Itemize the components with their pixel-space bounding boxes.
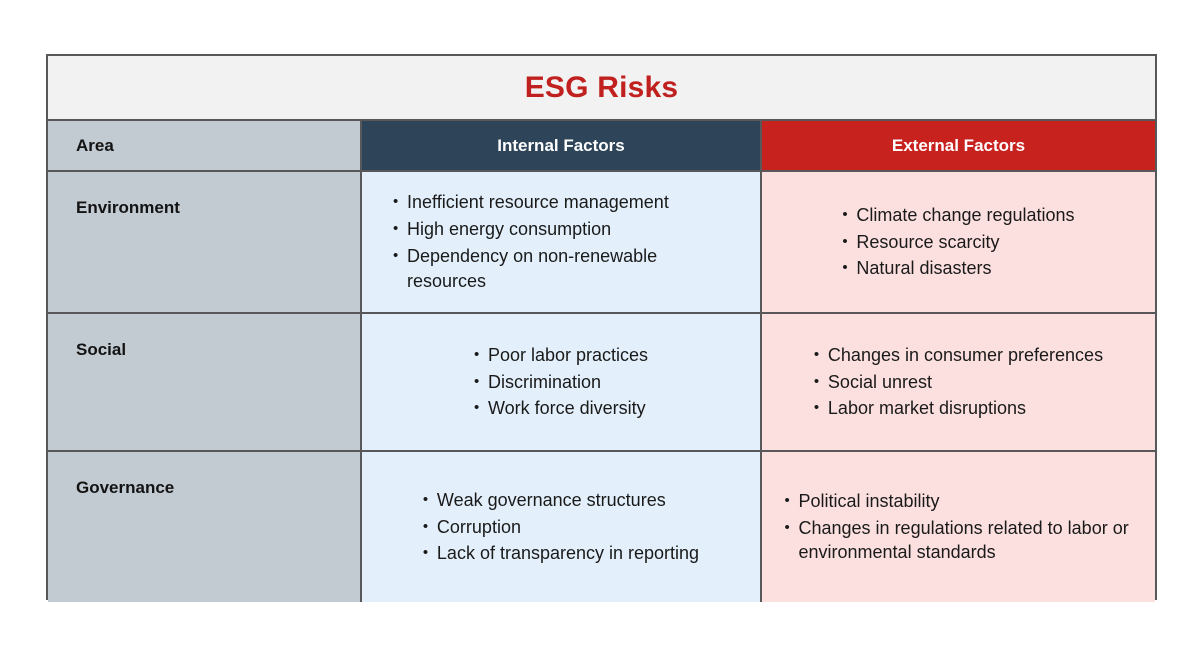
list-item: Climate change regulations [842,203,1074,228]
cell-governance-internal: Weak governance structures Corruption La… [362,452,762,602]
table-header-row: Area Internal Factors External Factors [48,121,1155,172]
list-item: Poor labor practices [474,343,648,368]
slide-canvas: ESG Risks Area Internal Factors External… [0,0,1200,650]
list-item: Changes in regulations related to labor … [785,516,1133,566]
table-row: Environment Inefficient resource managem… [48,172,1155,314]
row-label-text: Social [76,340,126,359]
cell-environment-external: Climate change regulations Resource scar… [762,172,1155,312]
list-item: Labor market disruptions [814,396,1103,421]
column-header-area: Area [48,121,362,170]
row-label-text: Environment [76,198,180,217]
list-item: High energy consumption [393,217,729,242]
row-label-governance: Governance [48,452,362,602]
cell-governance-external: Political instability Changes in regulat… [762,452,1155,602]
table-row: Governance Weak governance structures Co… [48,452,1155,602]
row-label-social: Social [48,314,362,450]
bullet-list: Climate change regulations Resource scar… [842,203,1074,281]
esg-risks-table: ESG Risks Area Internal Factors External… [46,54,1157,600]
table-row: Social Poor labor practices Discriminati… [48,314,1155,452]
table-title-row: ESG Risks [48,56,1155,121]
row-label-text: Governance [76,478,174,497]
row-label-environment: Environment [48,172,362,312]
cell-environment-internal: Inefficient resource management High ene… [362,172,762,312]
cell-social-external: Changes in consumer preferences Social u… [762,314,1155,450]
bullet-list: Political instability Changes in regulat… [785,489,1133,565]
list-item: Lack of transparency in reporting [423,541,699,566]
bullet-list: Changes in consumer preferences Social u… [814,343,1103,421]
bullet-list: Inefficient resource management High ene… [393,190,729,293]
column-header-internal-factors-label: Internal Factors [497,136,625,156]
cell-social-internal: Poor labor practices Discrimination Work… [362,314,762,450]
page-title: ESG Risks [525,73,679,103]
list-item: Social unrest [814,370,1103,395]
list-item: Weak governance structures [423,488,699,513]
bullet-list: Poor labor practices Discrimination Work… [474,343,648,421]
column-header-internal-factors: Internal Factors [362,121,762,170]
column-header-area-label: Area [76,136,114,156]
column-header-external-factors: External Factors [762,121,1155,170]
list-item: Discrimination [474,370,648,395]
column-header-external-factors-label: External Factors [892,136,1025,156]
list-item: Corruption [423,515,699,540]
list-item: Dependency on non-renewable resources [393,244,729,294]
list-item: Political instability [785,489,1133,514]
list-item: Changes in consumer preferences [814,343,1103,368]
list-item: Resource scarcity [842,230,1074,255]
list-item: Work force diversity [474,396,648,421]
list-item: Natural disasters [842,256,1074,281]
bullet-list: Weak governance structures Corruption La… [423,488,699,566]
list-item: Inefficient resource management [393,190,729,215]
